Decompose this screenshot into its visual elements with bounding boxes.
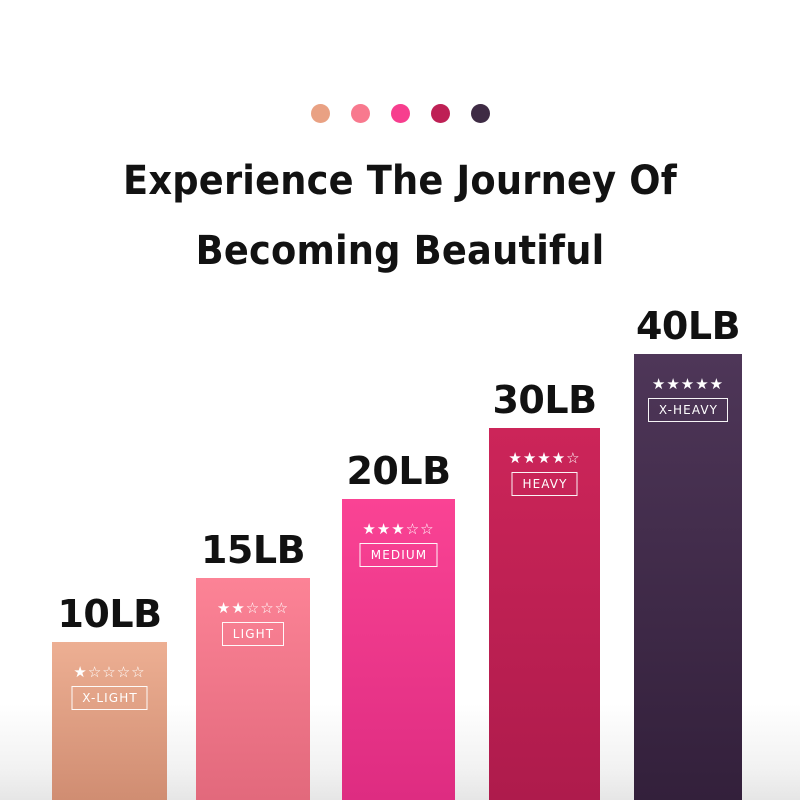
tier-label: HEAVY [511, 472, 577, 496]
bar-group[interactable]: ★★☆☆☆LIGHT15LB [196, 518, 310, 800]
bar-badge: ★★★★☆HEAVY [489, 450, 600, 496]
poster-canvas: Experience The Journey Of Becoming Beaut… [0, 0, 800, 800]
bar-group[interactable]: ★★★★★X-HEAVY40LB [634, 294, 742, 800]
bar-rect[interactable]: ★☆☆☆☆X-LIGHT [52, 642, 167, 800]
bar-group[interactable]: ★☆☆☆☆X-LIGHT10LB [52, 582, 167, 800]
bar-value-label: 15LB [201, 528, 305, 572]
bar-badge: ★★★☆☆MEDIUM [342, 521, 455, 567]
bar-badge: ★★☆☆☆LIGHT [196, 600, 310, 646]
bar-rect[interactable]: ★★★★☆HEAVY [489, 428, 600, 800]
bar-value-label: 20LB [346, 449, 450, 493]
rating-stars: ★☆☆☆☆ [52, 664, 167, 680]
bar-rect[interactable]: ★★★☆☆MEDIUM [342, 499, 455, 800]
rating-stars: ★★★★★ [634, 376, 742, 392]
bar-badge: ★☆☆☆☆X-LIGHT [52, 664, 167, 710]
bar-rect[interactable]: ★★☆☆☆LIGHT [196, 578, 310, 800]
tier-label: LIGHT [222, 622, 284, 646]
bar-value-label: 40LB [636, 304, 740, 348]
bar-value-label: 30LB [492, 378, 596, 422]
tier-label: X-LIGHT [71, 686, 148, 710]
bar-group[interactable]: ★★★☆☆MEDIUM20LB [342, 439, 455, 800]
bar-badge: ★★★★★X-HEAVY [634, 376, 742, 422]
tier-label: X-HEAVY [648, 398, 728, 422]
resistance-bar-chart: ★☆☆☆☆X-LIGHT10LB★★☆☆☆LIGHT15LB★★★☆☆MEDIU… [0, 0, 800, 800]
tier-label: MEDIUM [360, 543, 437, 567]
bar-value-label: 10LB [57, 592, 161, 636]
rating-stars: ★★★★☆ [489, 450, 600, 466]
bar-rect[interactable]: ★★★★★X-HEAVY [634, 354, 742, 800]
rating-stars: ★★★☆☆ [342, 521, 455, 537]
bar-group[interactable]: ★★★★☆HEAVY30LB [489, 368, 600, 800]
rating-stars: ★★☆☆☆ [196, 600, 310, 616]
